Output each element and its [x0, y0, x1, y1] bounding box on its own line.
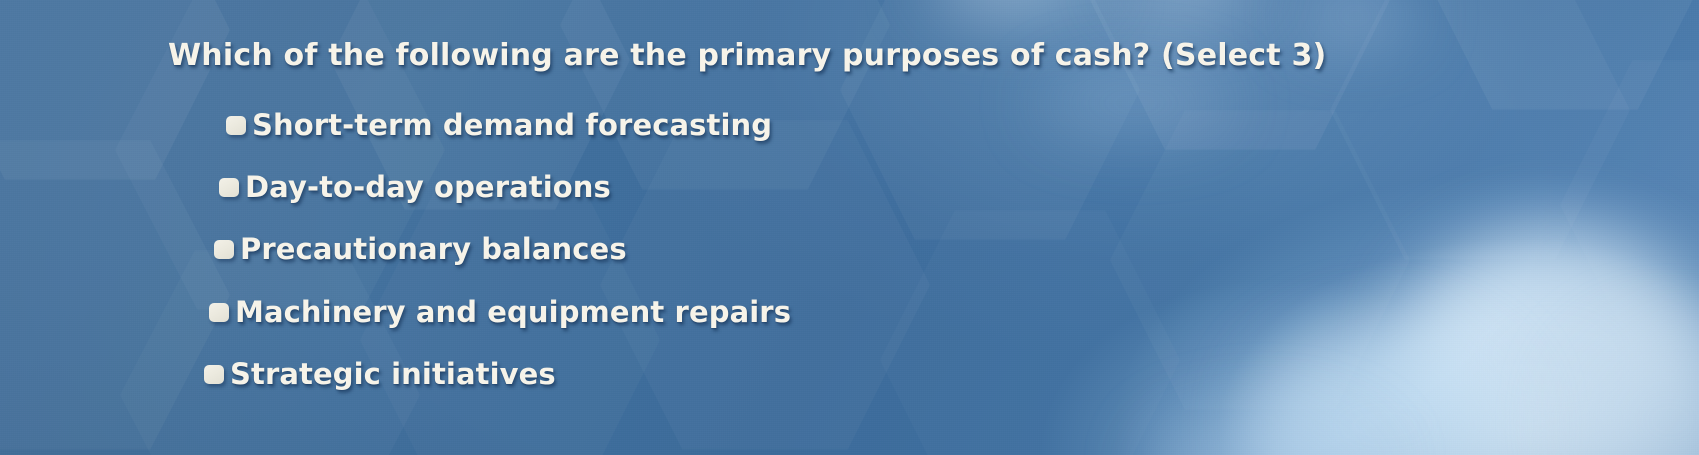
quiz-screen: Which of the following are the primary p…: [0, 0, 1699, 455]
option-row-4[interactable]: Strategic initiatives: [204, 357, 556, 391]
checkbox-icon[interactable]: [209, 303, 229, 322]
option-row-2[interactable]: Precautionary balances: [214, 232, 627, 266]
question-text: Which of the following are the primary p…: [168, 38, 1326, 73]
checkbox-icon[interactable]: [226, 116, 246, 135]
option-label[interactable]: Strategic initiatives: [230, 357, 556, 391]
option-label[interactable]: Day-to-day operations: [245, 170, 611, 204]
option-label[interactable]: Precautionary balances: [240, 232, 627, 266]
quiz-content: Which of the following are the primary p…: [0, 0, 1699, 455]
option-row-0[interactable]: Short-term demand forecasting: [226, 108, 772, 142]
checkbox-icon[interactable]: [219, 178, 239, 197]
option-label[interactable]: Short-term demand forecasting: [252, 108, 772, 142]
option-row-1[interactable]: Day-to-day operations: [219, 170, 611, 204]
option-label[interactable]: Machinery and equipment repairs: [235, 295, 791, 329]
checkbox-icon[interactable]: [204, 365, 224, 384]
option-row-3[interactable]: Machinery and equipment repairs: [209, 295, 791, 329]
checkbox-icon[interactable]: [214, 240, 234, 259]
